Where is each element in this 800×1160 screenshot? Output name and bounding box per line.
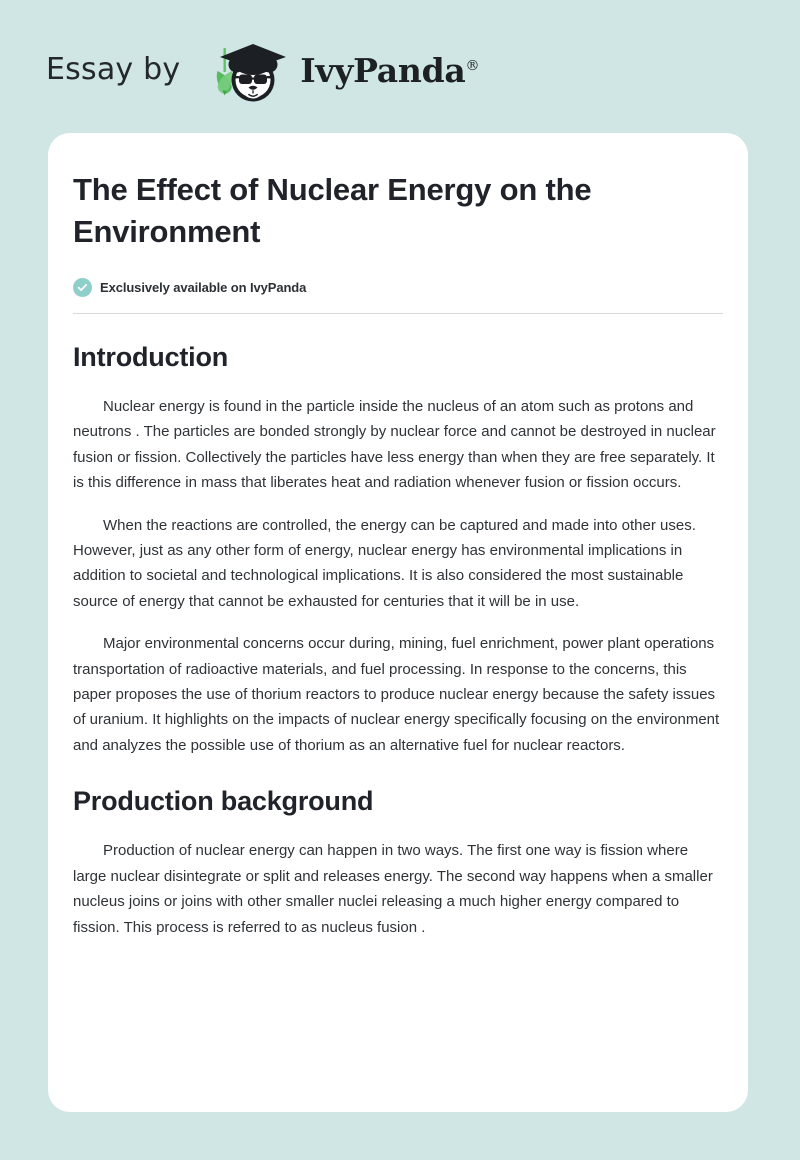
masthead-prefix: Essay by — [46, 55, 180, 85]
page-root: Essay by — [0, 0, 800, 1160]
paragraph: Nuclear energy is found in the particle … — [73, 394, 723, 496]
document-card: The Effect of Nuclear Energy on the Envi… — [48, 133, 748, 1112]
paragraph: When the reactions are controlled, the e… — [73, 513, 723, 615]
title-divider — [73, 313, 723, 314]
registered-mark: ® — [465, 58, 479, 74]
section-heading-production-background: Production background — [73, 785, 723, 817]
paragraph: Major environmental concerns occur durin… — [73, 631, 723, 758]
ivypanda-logo-lockup[interactable]: IvyPanda® — [198, 34, 479, 106]
masthead: Essay by — [46, 34, 479, 106]
page-title: The Effect of Nuclear Energy on the Envi… — [73, 169, 723, 253]
check-circle-icon — [73, 278, 92, 297]
paragraph: Production of nuclear energy can happen … — [73, 838, 723, 940]
section-heading-introduction: Introduction — [73, 341, 723, 373]
badge-label: Exclusively available on IvyPanda — [100, 280, 306, 295]
ivypanda-wordmark: IvyPanda® — [300, 54, 479, 87]
panda-graduate-logo-icon — [198, 34, 294, 106]
exclusivity-badge: Exclusively available on IvyPanda — [73, 278, 723, 297]
document-card-inner: The Effect of Nuclear Energy on the Envi… — [73, 169, 723, 940]
wordmark-text: IvyPanda — [300, 51, 465, 90]
